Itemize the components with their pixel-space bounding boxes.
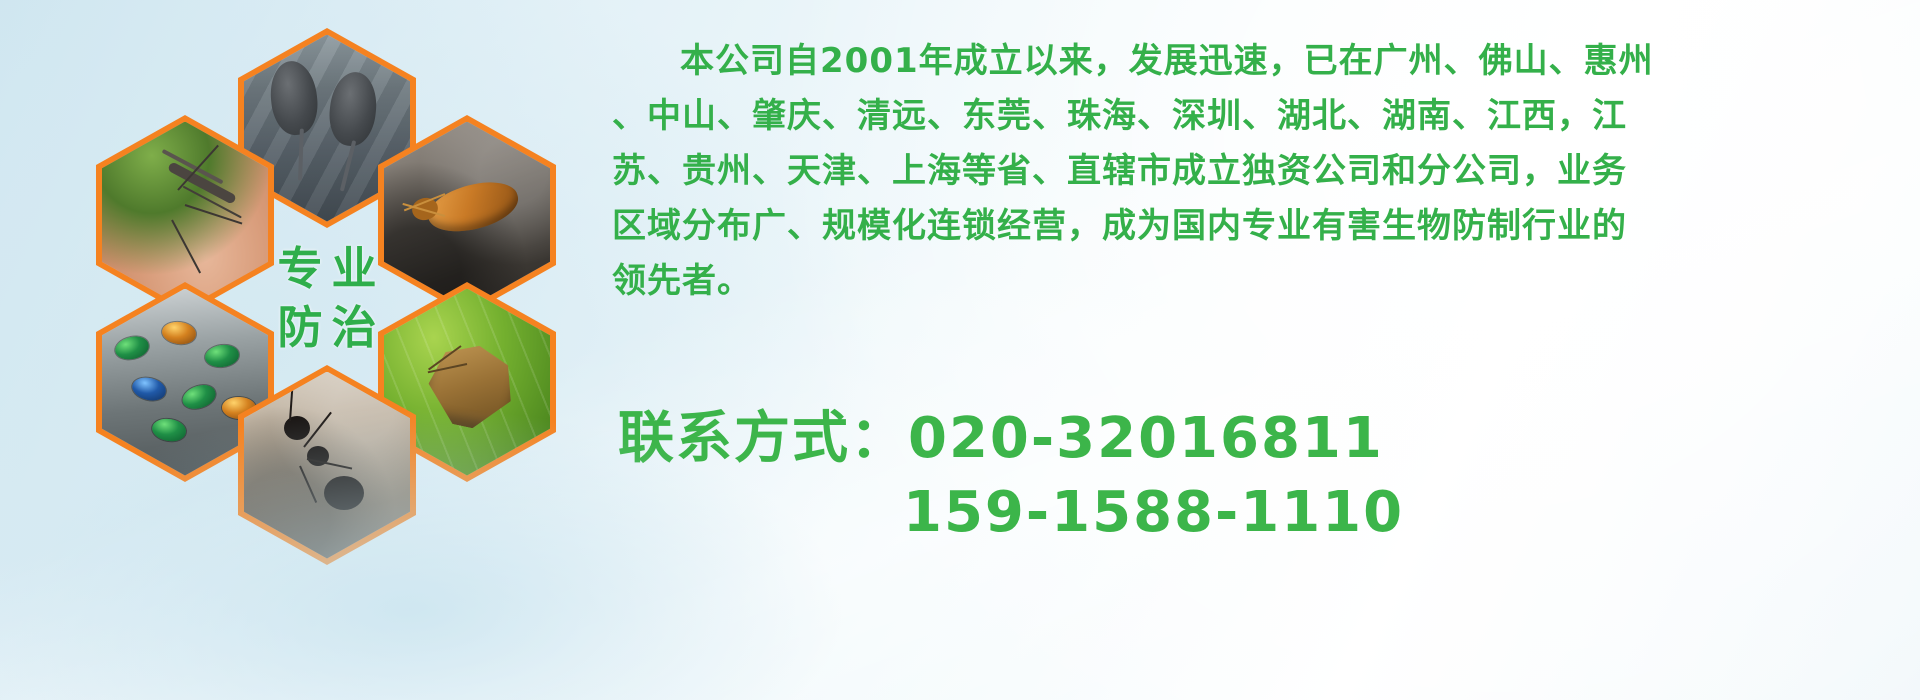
description-line-2: 、中山、肇庆、清远、东莞、珠海、深圳、湖北、湖南、江西，江 [612,89,1912,144]
ant-photo [244,372,410,559]
mosquito-body [167,161,237,205]
pest-control-banner: 专业 防治 本公司自2001年成立以来，发展迅速，已在广州、佛山、惠州 、中山、… [0,0,1920,700]
contact-phone-mobile[interactable]: 159-1588-1110 [618,476,1918,550]
logo-text-line1: 专业 [268,239,385,298]
description-line-5: 领先者。 [612,254,1912,309]
ant-abdomen [324,476,364,510]
fly-shape [160,320,197,347]
mosquito-leg [185,204,243,224]
fly-shape [150,417,187,445]
fly-shape [130,374,168,404]
description-line-3: 苏、贵州、天津、上海等省、直辖市成立独资公司和分公司，业务 [612,144,1912,199]
ant-photo-art [244,372,410,559]
soil-texture [244,372,410,559]
company-description: 本公司自2001年成立以来，发展迅速，已在广州、佛山、惠州 、中山、肇庆、清远、… [612,34,1912,309]
mosquito-leg [171,219,201,273]
contact-phone-landline[interactable]: 联系方式：020-32016811 [618,402,1918,476]
description-line-4: 区域分布广、规模化连锁经营，成为国内专业有害生物防制行业的 [612,199,1912,254]
hexagon-photo-cluster: 专业 防治 [78,10,598,570]
contact-block: 联系方式：020-32016811 159-1588-1110 [618,402,1918,550]
logo-text-line2: 防治 [268,298,385,357]
fly-shape [204,343,240,368]
fly-shape [113,334,151,363]
description-line-1: 本公司自2001年成立以来，发展迅速，已在广州、佛山、惠州 [612,34,1912,89]
fly-shape [179,381,218,412]
logo-hex-inner: 专业 防治 [244,205,410,392]
